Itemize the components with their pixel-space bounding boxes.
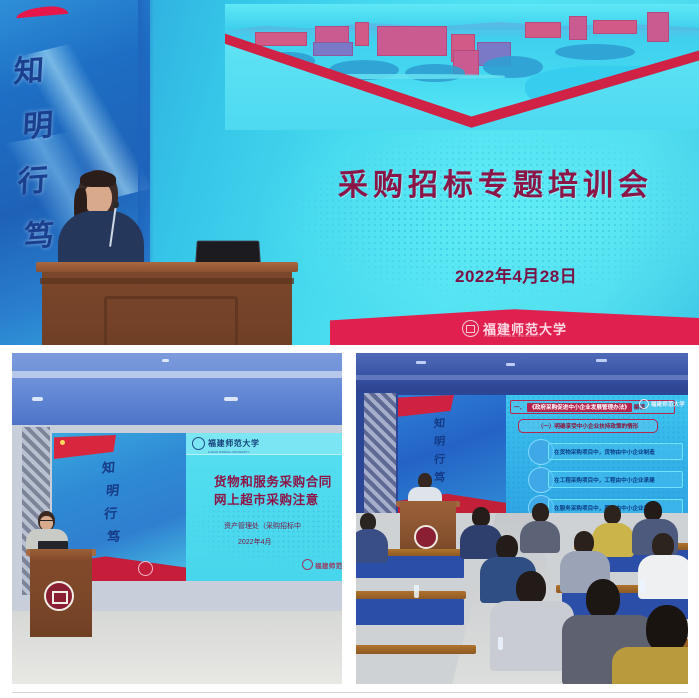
university-seal-icon [639,399,649,409]
desk-row [356,645,476,654]
glasses-icon [40,520,53,524]
slide-bullet-text: 在工程采购项目中，工程由中小企业承建 [554,476,655,484]
hall-ceiling [12,353,342,425]
slide-subtitle: 资产管理处（采购招标中 [224,521,301,531]
motto-char-4: 笃 [433,469,445,488]
audience-member-head [472,507,490,527]
slide-heading-title: 《政府采购促进中小企业发展管理办法》 [527,403,632,412]
audience-member-head [586,579,620,619]
right-audience-photo: 知 明 行 笃 一、 《政府采购促进中小企业发展管理办法》 解读 福建师范大学 [356,353,688,684]
slide-bullet: 在工程采购项目中，工程由中小企业承建 [548,471,683,488]
ceiling-strip [12,371,342,378]
campus-building [569,16,587,40]
motto-char-3: 行 [103,502,121,526]
slide-content: 一、 《政府采购促进中小企业发展管理办法》 解读 福建师范大学 （一）明确享受中… [506,395,688,513]
university-seal-icon [302,559,313,570]
podium-crest-icon [44,581,74,611]
motto-char-3: 行 [433,451,445,470]
slide-heading-number: 一、 [514,403,525,411]
hall-ceiling [356,353,688,391]
slide-date: 2022年4月 [238,537,271,547]
audience-member-head [532,503,549,522]
motto-char-1: 知 [433,415,445,434]
audience-member-body [638,555,688,599]
audience-member-body [612,647,688,684]
bottom-divider [12,692,688,693]
motto-char-1: 知 [12,39,107,100]
slide-header: 福建师范大学 FUJIAN NORMAL UNIVERSITY [186,433,342,455]
slide-title-line1: 货物和服务采购合同 [214,471,332,490]
photo-collage: 知 明 行 笃 采购招标专题培训会 2022年4月28日 福建师范大学 FUJI… [0,0,699,698]
slide-university-name: 福建师范大学 [208,438,260,448]
university-name-english: FUJIAN NORMAL UNIVERSITY [484,334,542,338]
slide-bullet: 在货物采购项目中，货物由中小企业制造 [548,443,683,460]
slide-title-line2: 网上超市采购注意 [214,489,319,508]
wall-lattice-panel [364,393,396,513]
ceiling-light [416,361,426,364]
presentation-screen: 知 明 行 笃 福建师范大学 FUJIAN NORMAL UNIVERSITY … [52,433,342,581]
ceiling-light [32,397,43,401]
slide-subheading-text: （一）明确享受中小企业扶持政策的情形 [538,422,639,430]
left-lecture-photo: 知 明 行 笃 福建师范大学 FUJIAN NORMAL UNIVERSITY … [12,353,342,684]
slide-university-name: 福建师范大学 [651,400,685,408]
audience-member-body [356,529,388,563]
screen-motto-calligraphy: 知 明 行 笃 [102,457,120,549]
water-bottle [640,579,645,592]
audience-member-head [646,605,688,653]
slide-bullet-text: 在货物采购项目中，货物由中小企业制造 [554,448,655,456]
slide-university-name-en: FUJIAN NORMAL UNIVERSITY [208,451,260,454]
campus-building [593,20,637,34]
audience-member-head [644,501,662,521]
ceiling-light [162,359,169,362]
slide-subheading: （一）明确享受中小企业扶持政策的情形 [518,419,658,433]
ceiling-strip [356,375,688,380]
desk-panel [356,599,464,625]
ceiling-light [596,359,607,362]
campus-building [255,32,307,46]
screen-motto-calligraphy: 知 明 行 笃 [434,415,445,487]
water-bottle [498,637,503,650]
motto-char-4: 笃 [106,526,121,550]
desk-row [356,591,466,599]
ceiling-light [506,363,515,366]
podium-crest-icon [414,525,438,549]
event-title: 采购招标专题培训会 [338,160,688,204]
audience-member-body [520,521,560,553]
university-seal-icon [192,437,205,450]
campus-building [377,26,447,56]
laptop-on-podium [195,241,261,264]
slide-footer-university: 福建师范大学 [315,560,342,570]
event-date: 2022年4月28日 [455,262,577,287]
water-bottle [414,585,419,598]
campus-building [525,22,561,38]
motto-char-1: 知 [101,456,121,480]
motto-char-2: 明 [433,433,445,452]
audience-member-head [516,571,546,605]
slide-content: 福建师范大学 FUJIAN NORMAL UNIVERSITY 货物和服务采购合… [186,433,342,581]
university-seal-icon [462,320,479,337]
audience-member-head [604,505,621,524]
campus-building [647,12,669,42]
podium-trim [40,278,294,284]
campus-trees [555,44,635,60]
slide-footer-logo: 福建师范大学 [302,559,342,570]
speaker-hair-front [80,171,116,187]
motto-char-2: 明 [21,94,107,155]
ceiling-light [224,397,238,401]
screen-seal-icon [138,561,153,576]
podium-top-surface [36,262,298,272]
campus-trees [405,64,465,82]
hero-conference-photo: 知 明 行 笃 采购招标专题培训会 2022年4月28日 福建师范大学 FUJI… [0,0,699,345]
campus-building [313,42,353,56]
campus-building [355,22,369,46]
motto-char-2: 明 [105,480,121,504]
podium-front-panel [104,296,238,345]
slide-university-logo: 福建师范大学 [639,399,685,409]
